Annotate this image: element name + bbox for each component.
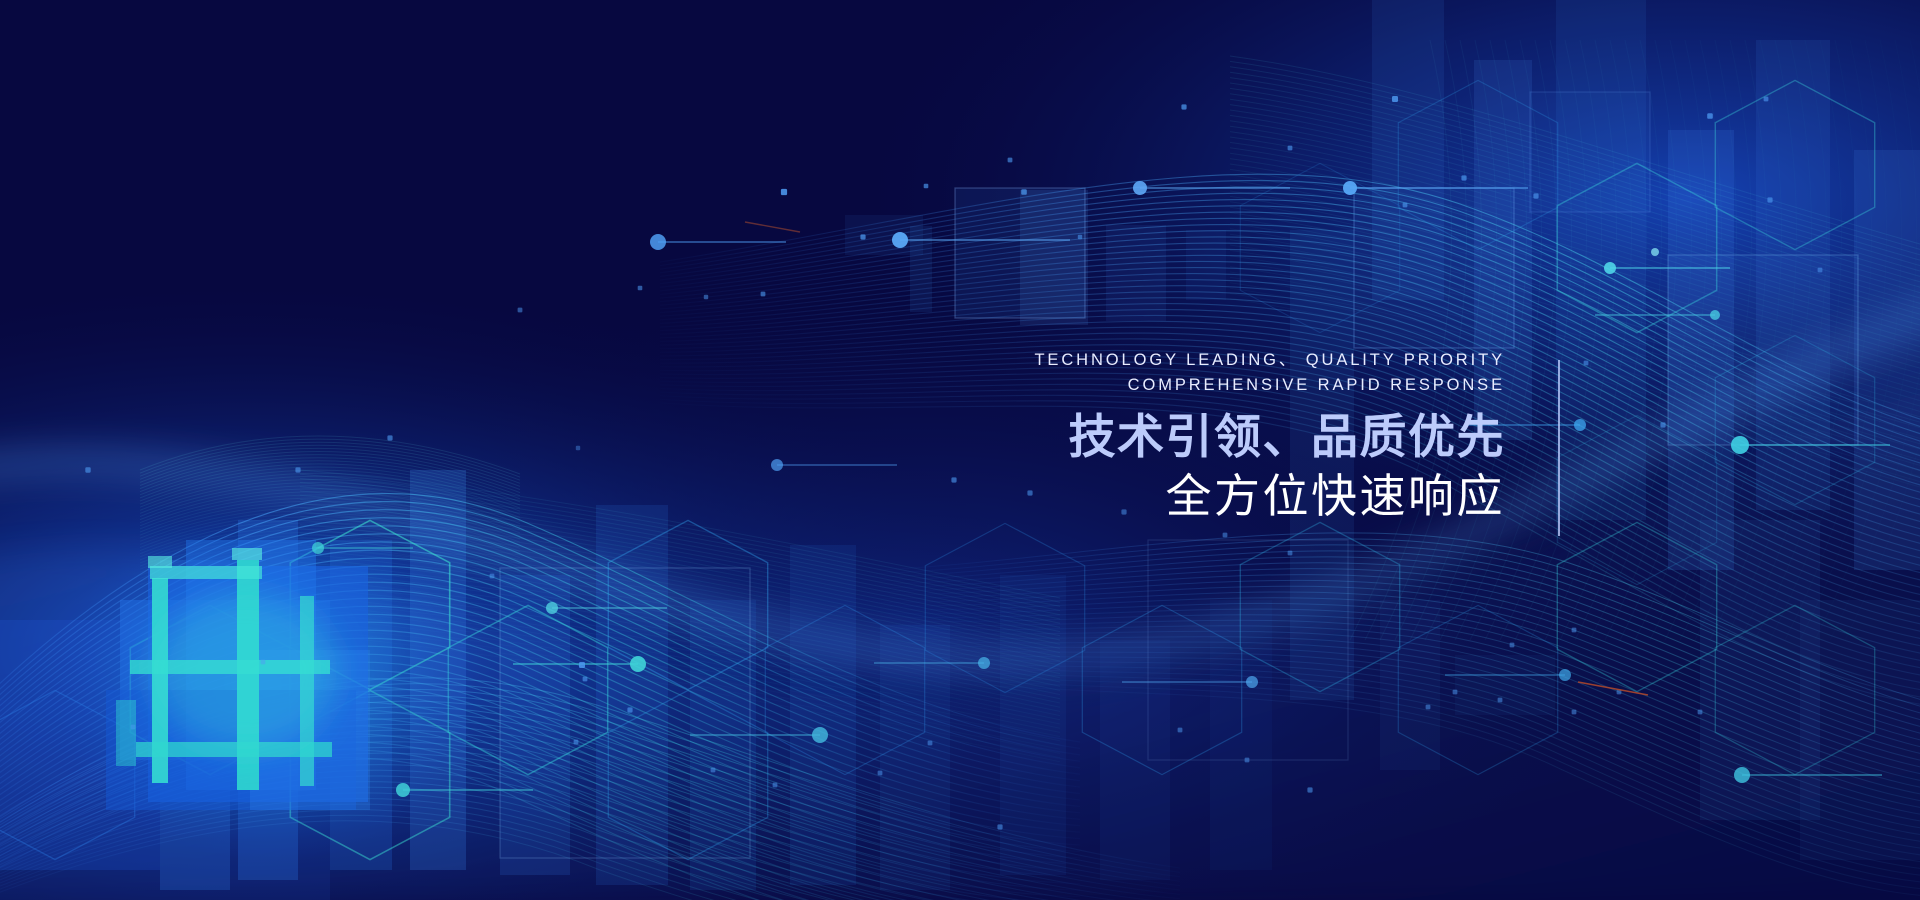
- decor-dot: [1392, 96, 1398, 102]
- decor-dot: [1572, 710, 1577, 715]
- decor-dot: [1181, 104, 1186, 109]
- decor-dot: [860, 234, 865, 239]
- decor-dot: [574, 740, 579, 745]
- circuit-node: [396, 783, 410, 797]
- decor-dot: [1698, 710, 1703, 715]
- decor-dot: [627, 707, 632, 712]
- decor-dot: [261, 660, 266, 665]
- decor-dot: [1533, 193, 1538, 198]
- decor-dot: [1818, 268, 1823, 273]
- english-tagline-line-2: COMPREHENSIVE RAPID RESPONSE: [640, 373, 1505, 398]
- decor-dot: [1288, 551, 1293, 556]
- circuit-node: [1574, 419, 1586, 431]
- circuit-node: [1559, 669, 1571, 681]
- decor-dot: [1498, 698, 1503, 703]
- decor-dot: [576, 446, 580, 450]
- circuit-node: [892, 232, 908, 248]
- decor-dot: [1767, 197, 1772, 202]
- decor-dot: [1426, 705, 1431, 710]
- accent-streak: [1578, 682, 1648, 695]
- decor-dot: [761, 292, 766, 297]
- decor-dot: [924, 184, 929, 189]
- circuit-node: [1246, 676, 1258, 688]
- decor-dot: [1403, 203, 1408, 208]
- decor-dot: [579, 662, 585, 668]
- circuit-node: [978, 657, 990, 669]
- decor-dot: [1660, 422, 1665, 427]
- decor-dot: [638, 286, 643, 291]
- decor-dot: [1078, 235, 1082, 239]
- decor-dot: [1223, 533, 1228, 538]
- decor-dot: [773, 783, 778, 788]
- decor-dot: [997, 824, 1002, 829]
- vertical-divider: [1558, 360, 1560, 536]
- decor-dot: [85, 467, 90, 472]
- chinese-headline-primary: 技术引领、品质优先: [640, 406, 1505, 468]
- decor-dot: [711, 768, 716, 773]
- decor-dot: [878, 771, 883, 776]
- decor-dot: [1307, 787, 1312, 792]
- decor-dot: [1021, 189, 1027, 195]
- decor-dot: [1461, 175, 1466, 180]
- english-tagline-line-1: TECHNOLOGY LEADING、 QUALITY PRIORITY: [640, 348, 1505, 373]
- decor-dot: [1572, 628, 1577, 633]
- decor-dot: [518, 308, 523, 313]
- decor-dot: [1288, 146, 1293, 151]
- banner-root: TECHNOLOGY LEADING、 QUALITY PRIORITY COM…: [0, 0, 1920, 900]
- circuit-node: [650, 234, 666, 250]
- circuit-node: [630, 656, 646, 672]
- headline-text-block: TECHNOLOGY LEADING、 QUALITY PRIORITY COM…: [640, 348, 1505, 526]
- decor-dot: [1764, 97, 1769, 102]
- circuit-node: [812, 727, 828, 743]
- decor-dot: [295, 467, 300, 472]
- circuit-node: [546, 602, 558, 614]
- decor-dot: [781, 189, 787, 195]
- decor-dot: [1510, 643, 1515, 648]
- circuit-node: [1651, 248, 1659, 256]
- decor-dot: [131, 725, 136, 730]
- decor-dot: [387, 435, 392, 440]
- decor-dot: [1008, 158, 1013, 163]
- decor-dot: [1245, 758, 1250, 763]
- decor-dot: [583, 677, 588, 682]
- decor-dot: [1178, 728, 1183, 733]
- circuit-node: [312, 542, 324, 554]
- circuit-node: [1710, 310, 1720, 320]
- decor-dot: [1707, 113, 1713, 119]
- circuit-node: [1734, 767, 1750, 783]
- chinese-headline-secondary: 全方位快速响应: [640, 466, 1505, 526]
- circuit-node: [1731, 436, 1749, 454]
- decor-dot: [1453, 690, 1458, 695]
- decor-dot: [704, 295, 708, 299]
- circuit-node: [1343, 181, 1357, 195]
- decor-dot: [928, 741, 933, 746]
- circuit-node: [1604, 262, 1616, 274]
- circuit-node: [1133, 181, 1147, 195]
- accent-streak-2: [745, 222, 800, 232]
- decor-dot: [1584, 361, 1589, 366]
- decor-dot: [490, 574, 495, 579]
